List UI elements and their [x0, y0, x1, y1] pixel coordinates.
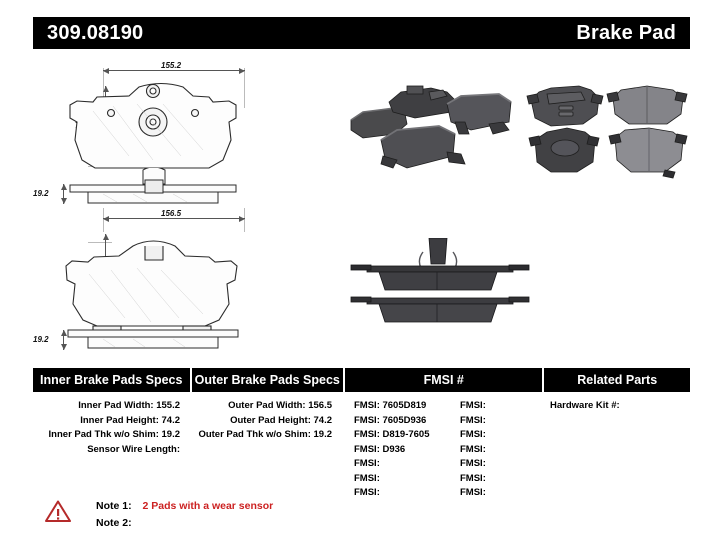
note-1-label: Note 1: [96, 500, 132, 512]
related-part-row: Hardware Kit #: [540, 399, 686, 414]
note-1-value: 2 Pads with a wear sensor [143, 500, 274, 512]
spec-row: Inner Pad Width: 155.2 [33, 399, 190, 414]
spec-row: Outer Pad Thk w/o Shim: 19.2 [190, 428, 342, 443]
note-2-row: Note 2: [96, 517, 140, 529]
specs-table: Inner Brake Pads Specs Outer Brake Pads … [33, 368, 690, 501]
fmsi-row: FMSI: [460, 457, 540, 472]
header-related-parts: Related Parts [544, 368, 690, 392]
column-related-parts: Hardware Kit #: [540, 392, 686, 501]
fmsi-row: FMSI: D819-7605 [354, 428, 458, 443]
outer-width-dim-label: 156.5 [161, 209, 181, 218]
inner-thickness-dim-line [63, 184, 64, 204]
fmsi-row: FMSI: [460, 472, 540, 487]
drawings-panel: 155.2 74.2 [33, 56, 690, 356]
fmsi-row: FMSI: 7605D936 [354, 414, 458, 429]
fmsi-row: FMSI: D936 [354, 443, 458, 458]
outer-pad-drawing: 156.5 74.2 19.2 [33, 208, 263, 356]
page-title: Brake Pad [576, 23, 676, 43]
fmsi-subcolumn-1: FMSI: 7605D819 FMSI: 7605D936 FMSI: D819… [342, 399, 458, 501]
table-body: Inner Pad Width: 155.2 Inner Pad Height:… [33, 392, 690, 501]
inner-pad-side-view [33, 168, 263, 213]
spec-row: Outer Pad Width: 156.5 [190, 399, 342, 414]
spec-row: Inner Pad Height: 74.2 [33, 414, 190, 429]
note-1-row: Note 1: 2 Pads with a wear sensor [96, 500, 273, 512]
product-photo-grid [525, 78, 690, 190]
fmsi-row: FMSI: [354, 472, 458, 487]
part-number: 309.08190 [47, 23, 143, 43]
inner-pad-drawing: 155.2 74.2 [33, 56, 263, 206]
spec-row: Sensor Wire Length: [33, 443, 190, 458]
fmsi-row: FMSI: [460, 443, 540, 458]
fmsi-row: FMSI: 7605D819 [354, 399, 458, 414]
fmsi-row: FMSI: [460, 399, 540, 414]
column-fmsi: FMSI: 7605D819 FMSI: 7605D936 FMSI: D819… [342, 392, 540, 501]
fmsi-subcolumn-2: FMSI: FMSI: FMSI: FMSI: FMSI: FMSI: FMSI… [458, 399, 540, 501]
outer-thickness-dim-line [63, 330, 64, 350]
header-bar: 309.08190 Brake Pad [33, 17, 690, 49]
header-fmsi: FMSI # [345, 368, 542, 392]
header-inner-specs: Inner Brake Pads Specs [33, 368, 190, 392]
product-photo-scattered [343, 78, 518, 188]
header-outer-specs: Outer Brake Pads Specs [192, 368, 344, 392]
warning-icon [45, 500, 71, 523]
inner-thickness-dim-label: 19.2 [33, 189, 49, 198]
fmsi-row: FMSI: [460, 414, 540, 429]
column-inner-specs: Inner Pad Width: 155.2 Inner Pad Height:… [33, 392, 190, 501]
wear-sensor-clip [429, 238, 447, 264]
fmsi-row: FMSI: [354, 457, 458, 472]
column-outer-specs: Outer Pad Width: 156.5 Outer Pad Height:… [190, 392, 342, 501]
fmsi-row: FMSI: [460, 428, 540, 443]
product-photo-edge-view [345, 238, 535, 333]
spec-row: Outer Pad Height: 74.2 [190, 414, 342, 429]
outer-pad-side-view [33, 326, 263, 366]
table-header-row: Inner Brake Pads Specs Outer Brake Pads … [33, 368, 690, 392]
note-2-label: Note 2: [96, 517, 132, 529]
notes-section: Note 1: 2 Pads with a wear sensor Note 2… [33, 498, 690, 548]
spec-row: Inner Pad Thk w/o Shim: 19.2 [33, 428, 190, 443]
outer-thickness-dim-label: 19.2 [33, 335, 49, 344]
outer-width-dim-line [103, 218, 245, 219]
